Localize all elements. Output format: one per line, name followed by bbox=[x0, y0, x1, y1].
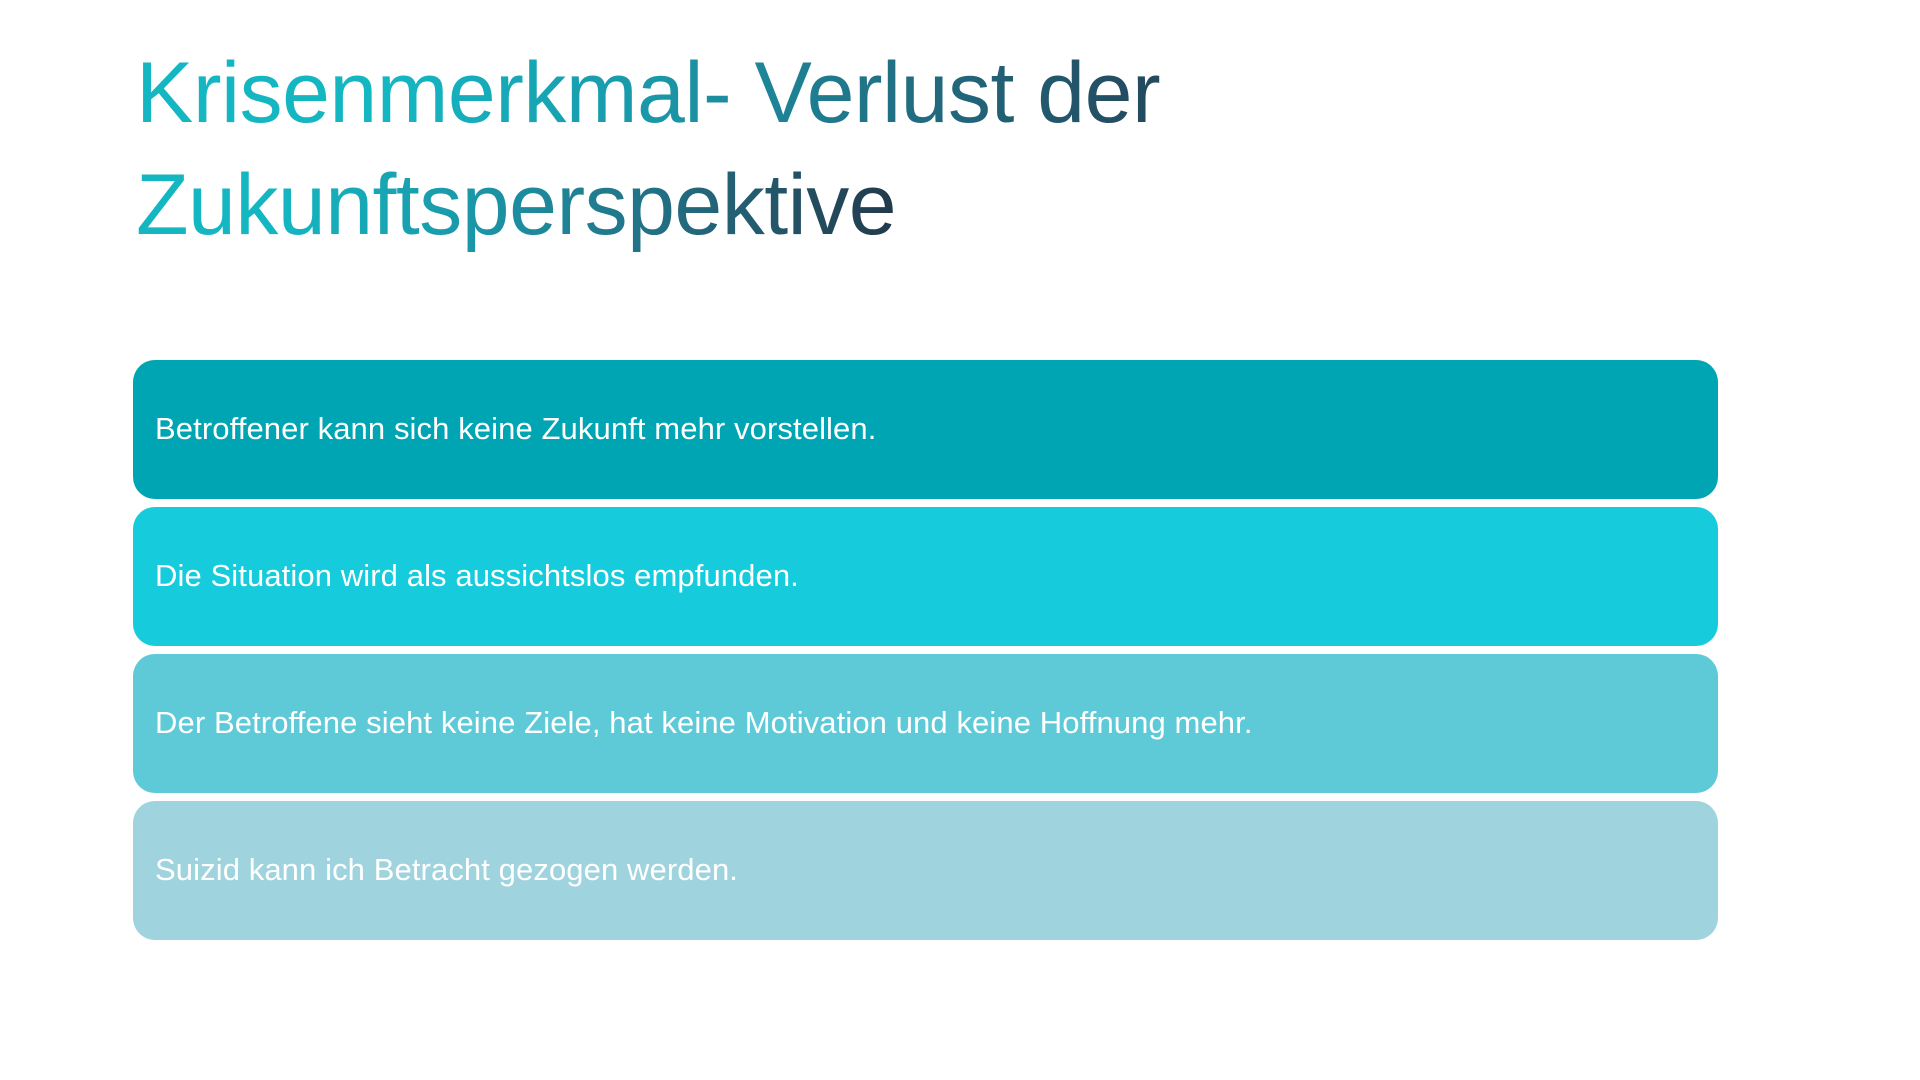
bar-item-2: Die Situation wird als aussichtslos empf… bbox=[133, 507, 1718, 646]
bar-item-4: Suizid kann ich Betracht gezogen werden. bbox=[133, 801, 1718, 940]
slide-title: Krisenmerkmal- Verlust der Zukunftspersp… bbox=[136, 38, 1436, 262]
bar-item-3: Der Betroffene sieht keine Ziele, hat ke… bbox=[133, 654, 1718, 793]
bar-item-3-label: Der Betroffene sieht keine Ziele, hat ke… bbox=[133, 704, 1275, 743]
presentation-slide: Krisenmerkmal- Verlust der Zukunftspersp… bbox=[0, 0, 1920, 1080]
bar-item-1: Betroffener kann sich keine Zukunft mehr… bbox=[133, 360, 1718, 499]
bar-item-1-label: Betroffener kann sich keine Zukunft mehr… bbox=[133, 410, 898, 449]
bar-list: Betroffener kann sich keine Zukunft mehr… bbox=[133, 360, 1718, 940]
bar-item-2-label: Die Situation wird als aussichtslos empf… bbox=[133, 557, 821, 596]
bar-item-4-label: Suizid kann ich Betracht gezogen werden. bbox=[133, 851, 760, 890]
slide-title-line-1: Krisenmerkmal- Verlust der bbox=[136, 38, 1436, 150]
slide-title-line-2: Zukunftsperspektive bbox=[136, 150, 1436, 262]
